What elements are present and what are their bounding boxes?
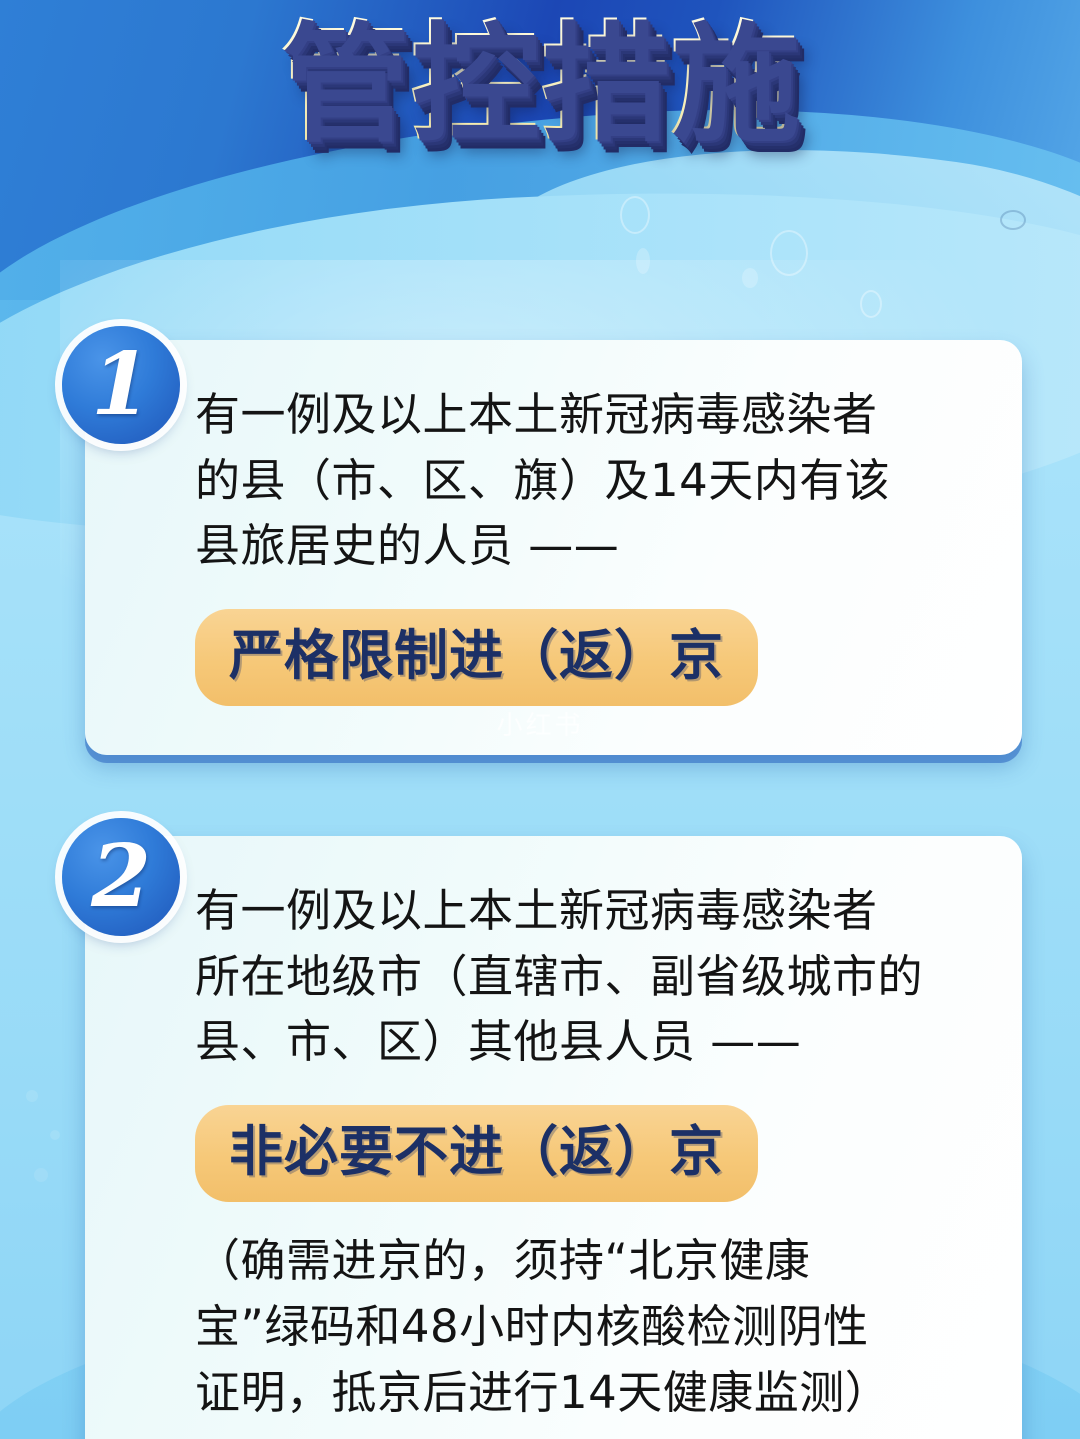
measure-card-2-body: 有一例及以上本土新冠病毒感染者 所在地级市（直辖市、副省级城市的 县、市、区）其… xyxy=(195,878,988,1425)
poster-title-container: 管控措施 xyxy=(0,8,1080,159)
virus-mote-icon xyxy=(860,290,882,318)
measure-card-1-paragraph: 有一例及以上本土新冠病毒感染者 的县（市、区、旗）及14天内有该 县旅居史的人员… xyxy=(195,382,988,579)
measure-card-1-pill-row: 严格限制进（返）京 xyxy=(195,609,988,706)
measure-card-1: 有一例及以上本土新冠病毒感染者 的县（市、区、旗）及14天内有该 县旅居史的人员… xyxy=(85,340,1022,755)
virus-mote-icon xyxy=(742,268,758,288)
virus-mote-icon xyxy=(26,1090,38,1102)
poster-root: 管控措施 1 有一例及以上本土新冠病毒感染者 的县（市、区、旗）及14天内有该 … xyxy=(0,0,1080,1439)
virus-mote-icon xyxy=(34,1168,48,1182)
step-number-badge-1: 1 xyxy=(62,326,180,444)
virus-mote-icon xyxy=(770,230,808,276)
measure-card-1-highlight-pill: 严格限制进（返）京 xyxy=(195,609,758,706)
measure-card-2-highlight-pill: 非必要不进（返）京 xyxy=(195,1105,758,1202)
measure-card-2-pill-row: 非必要不进（返）京 xyxy=(195,1105,988,1202)
poster-title: 管控措施 xyxy=(280,8,800,159)
virus-mote-icon xyxy=(636,248,650,274)
measure-card-2-paragraph: 有一例及以上本土新冠病毒感染者 所在地级市（直辖市、副省级城市的 县、市、区）其… xyxy=(195,878,988,1075)
measure-card-2-note: （确需进京的，须持“北京健康 宝”绿码和48小时内核酸检测阴性 证明，抵京后进行… xyxy=(195,1228,988,1425)
virus-mote-icon xyxy=(1000,210,1026,230)
virus-mote-icon xyxy=(50,1130,60,1140)
measure-card-1-body: 有一例及以上本土新冠病毒感染者 的县（市、区、旗）及14天内有该 县旅居史的人员… xyxy=(195,382,988,706)
measure-card-2: 有一例及以上本土新冠病毒感染者 所在地级市（直辖市、副省级城市的 县、市、区）其… xyxy=(85,836,1022,1439)
step-number-badge-2: 2 xyxy=(62,818,180,936)
virus-mote-icon xyxy=(620,196,650,234)
